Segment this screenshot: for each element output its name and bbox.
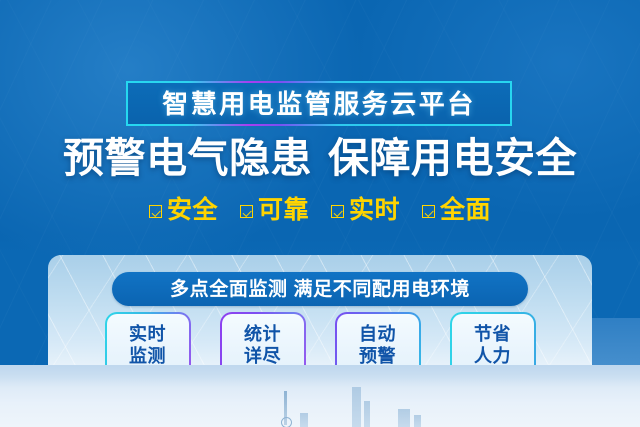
panel-headline-pill: 多点全面监测 满足不同配用电环境 — [112, 272, 528, 306]
bottom-cityscape-strip — [0, 365, 640, 427]
panel-headline-text: 多点全面监测 满足不同配用电环境 — [170, 280, 470, 299]
check-item-0: 安全 — [149, 198, 218, 223]
feature-line-1: 实时 — [129, 324, 166, 346]
building-silhouette — [364, 401, 370, 427]
headline-part-1: 预警电气隐患 — [63, 135, 312, 181]
title-plate-inner: 智慧用电监管服务云平台 — [128, 83, 510, 124]
checklist-row: 安全 可靠 实时 全面 — [0, 198, 640, 223]
title-plate: 智慧用电监管服务云平台 — [126, 81, 512, 126]
building-silhouette — [352, 387, 361, 427]
transmission-tower-icon — [284, 391, 287, 425]
check-label: 实时 — [349, 198, 400, 223]
building-silhouette — [398, 409, 410, 427]
building-silhouette — [414, 415, 421, 427]
check-box-icon — [240, 205, 253, 218]
poster-root: 智慧用电监管服务云平台 预警电气隐患保障用电安全 安全 可靠 实时 全面 多点全… — [0, 0, 640, 427]
bottom-haze — [0, 365, 640, 387]
check-label: 全面 — [440, 198, 491, 223]
check-label: 安全 — [167, 198, 218, 223]
check-item-1: 可靠 — [240, 198, 309, 223]
check-label: 可靠 — [258, 198, 309, 223]
feature-line-1: 统计 — [244, 324, 281, 346]
building-silhouette — [300, 413, 308, 427]
headline-part-2: 保障用电安全 — [328, 135, 577, 181]
check-item-2: 实时 — [331, 198, 400, 223]
platform-title: 智慧用电监管服务云平台 — [162, 91, 476, 117]
check-item-3: 全面 — [422, 198, 491, 223]
feature-line-1: 节省 — [474, 324, 511, 346]
check-box-icon — [422, 205, 435, 218]
check-box-icon — [149, 205, 162, 218]
check-box-icon — [331, 205, 344, 218]
feature-line-1: 自动 — [359, 324, 396, 346]
main-headline: 预警电气隐患保障用电安全 — [0, 138, 640, 179]
